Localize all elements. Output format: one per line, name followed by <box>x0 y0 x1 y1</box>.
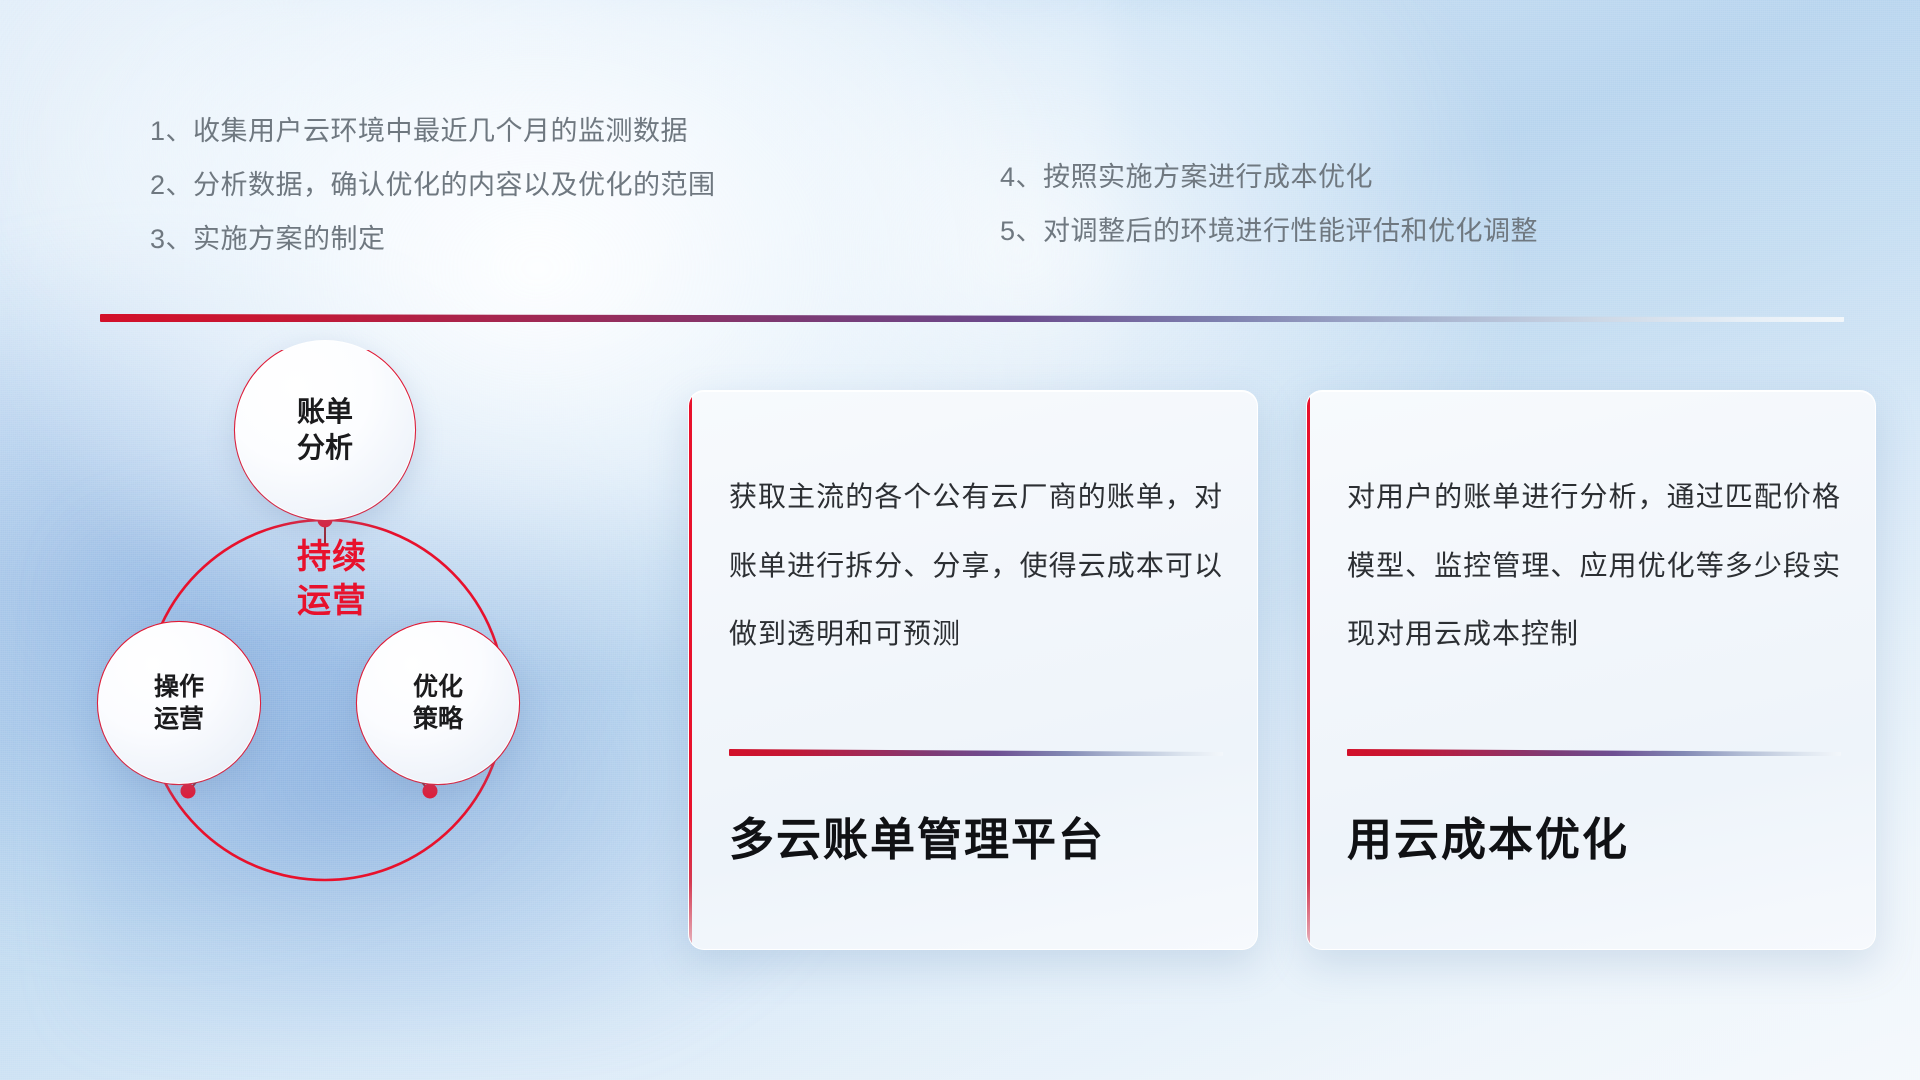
venn-bubble-optimization[interactable]: 优化 策略 <box>357 622 519 784</box>
venn-node-left <box>181 784 196 799</box>
venn-bubble-operations-line1: 操作 <box>154 671 204 704</box>
section-divider-gradient <box>100 314 1844 322</box>
card-divider <box>729 749 1223 756</box>
venn-diagram: 账单 分析 操作 运营 优化 策略 持续 运营 <box>80 350 600 950</box>
card-divider-gradient <box>1347 749 1841 756</box>
steps-column-right: 4、按照实施方案进行成本优化 5、对调整后的环境进行性能评估和优化调整 <box>1000 150 1538 258</box>
venn-node-right <box>423 784 438 799</box>
step-item-1: 1、收集用户云环境中最近几个月的监测数据 <box>150 104 716 158</box>
section-divider <box>100 314 1844 322</box>
venn-bubble-operations-line2: 运营 <box>154 703 204 736</box>
venn-bubble-operations[interactable]: 操作 运营 <box>98 622 260 784</box>
feature-card-multicloud-billing[interactable]: 获取主流的各个公有云厂商的账单，对账单进行拆分、分享，使得云成本可以做到透明和可… <box>688 390 1258 950</box>
step-item-4: 4、按照实施方案进行成本优化 <box>1000 150 1538 204</box>
venn-bubble-bill-analysis-line1: 账单 <box>297 394 353 430</box>
steps-list: 1、收集用户云环境中最近几个月的监测数据 2、分析数据，确认优化的内容以及优化的… <box>0 0 1920 300</box>
card-title: 多云账单管理平台 <box>729 803 1233 868</box>
card-divider-gradient <box>729 749 1223 756</box>
card-body-text: 获取主流的各个公有云厂商的账单，对账单进行拆分、分享，使得云成本可以做到透明和可… <box>729 463 1223 669</box>
step-item-5: 5、对调整后的环境进行性能评估和优化调整 <box>1000 204 1538 258</box>
card-body-text: 对用户的账单进行分析，通过匹配价格模型、监控管理、应用优化等多少段实现对用云成本… <box>1347 463 1841 669</box>
card-divider <box>1347 749 1841 756</box>
steps-column-left: 1、收集用户云环境中最近几个月的监测数据 2、分析数据，确认优化的内容以及优化的… <box>150 104 716 266</box>
venn-center-label-line1: 持续 <box>247 536 417 580</box>
card-accent-edge <box>689 391 692 949</box>
venn-center-label-line2: 运营 <box>247 580 417 624</box>
step-item-3: 3、实施方案的制定 <box>150 212 716 266</box>
venn-bubble-optimization-line2: 策略 <box>413 703 463 736</box>
venn-bubble-bill-analysis[interactable]: 账单 分析 <box>235 340 415 520</box>
step-item-2: 2、分析数据，确认优化的内容以及优化的范围 <box>150 158 716 212</box>
feature-card-cloud-cost-optimization[interactable]: 对用户的账单进行分析，通过匹配价格模型、监控管理、应用优化等多少段实现对用云成本… <box>1306 390 1876 950</box>
venn-bubble-optimization-line1: 优化 <box>413 671 463 704</box>
venn-center-label: 持续 运营 <box>247 536 417 623</box>
card-title: 用云成本优化 <box>1347 803 1851 868</box>
venn-bubble-bill-analysis-line2: 分析 <box>297 430 353 466</box>
card-accent-edge <box>1307 391 1310 949</box>
